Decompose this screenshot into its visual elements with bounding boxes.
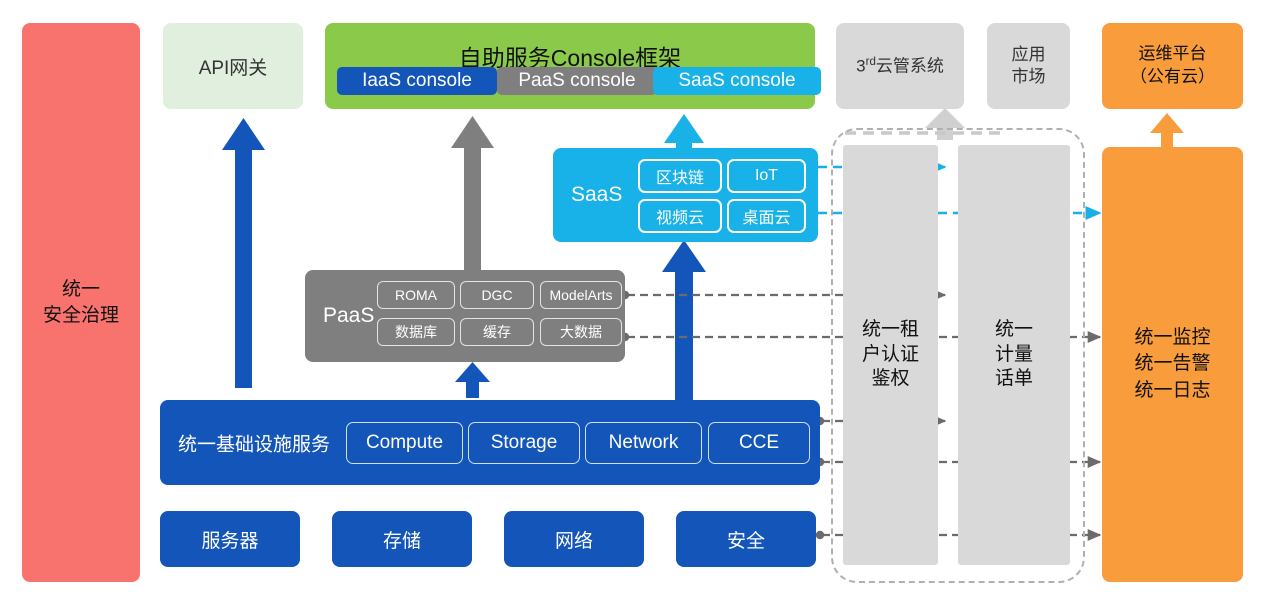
resource-tile-storage[interactable]: 存储 (332, 511, 472, 567)
app-market-label: 应用 市场 (1012, 44, 1046, 88)
paas-item-dgc-label: DGC (481, 287, 512, 303)
paas-label: PaaS (323, 304, 374, 328)
saas-item-desktop-cloud[interactable]: 桌面云 (727, 199, 806, 233)
saas-item-video-cloud-label: 视频云 (656, 204, 704, 228)
self-service-console-frame: 自助服务Console框架 IaaS console PaaS console … (325, 23, 815, 109)
api-gateway-box[interactable]: API网关 (163, 23, 303, 109)
unified-security-governance-panel: 统一 安全治理 (22, 23, 140, 582)
infra-item-compute[interactable]: Compute (346, 422, 463, 464)
saas-label: SaaS (571, 183, 622, 207)
paas-item-modelarts[interactable]: ModelArts (540, 281, 622, 309)
arrow-infra-to-api-gateway (222, 118, 265, 388)
unified-infrastructure-bar: 统一基础设施服务 Compute Storage Network CCE (160, 400, 820, 485)
saas-item-iot-label: IoT (755, 167, 778, 185)
unified-tenant-auth-label: 统一租 户认证 鉴权 (843, 318, 938, 392)
architecture-diagram-canvas: 统一 安全治理 API网关 自助服务Console框架 IaaS console… (0, 0, 1265, 605)
saas-item-desktop-cloud-label: 桌面云 (742, 204, 790, 228)
paas-item-dgc[interactable]: DGC (460, 281, 534, 309)
paas-console-chip[interactable]: PaaS console (497, 67, 657, 95)
arrow-to-ops-platform (1150, 113, 1184, 147)
paas-item-cache[interactable]: 缓存 (460, 318, 534, 346)
ops-platform-box[interactable]: 运维平台 （公有云） (1102, 23, 1243, 109)
saas-block: SaaS 区块链 IoT 视频云 桌面云 (553, 148, 818, 242)
infra-item-cce[interactable]: CCE (708, 422, 810, 464)
resource-tile-storage-label: 存储 (383, 526, 421, 553)
unified-monitoring-label: 统一监控 统一告警 统一日志 (1134, 325, 1210, 404)
paas-item-cache-label: 缓存 (483, 322, 511, 342)
infra-item-compute-label: Compute (366, 432, 443, 454)
resource-tile-network-label: 网络 (555, 526, 593, 553)
saas-item-blockchain-label: 区块链 (656, 164, 704, 188)
resource-tile-server-label: 服务器 (201, 526, 258, 553)
saas-item-iot[interactable]: IoT (727, 159, 806, 193)
paas-item-database-label: 数据库 (395, 322, 437, 342)
ops-platform-label: 运维平台 （公有云） (1130, 43, 1215, 89)
infra-item-storage-label: Storage (491, 432, 558, 454)
arrow-infra-to-paas (455, 362, 490, 398)
resource-tile-security-label: 安全 (727, 526, 765, 553)
saas-console-chip[interactable]: SaaS console (653, 67, 821, 95)
paas-item-database[interactable]: 数据库 (377, 318, 455, 346)
paas-item-modelarts-label: ModelArts (549, 287, 612, 303)
unified-tenant-auth-column: 统一租 户认证 鉴权 (843, 145, 938, 565)
api-gateway-label: API网关 (199, 53, 268, 80)
third-party-cloud-mgmt-label: 3rd云管系统 (856, 55, 944, 78)
infra-item-network-label: Network (609, 432, 679, 454)
saas-item-video-cloud[interactable]: 视频云 (638, 199, 722, 233)
unified-metering-label: 统一 计量 话单 (958, 318, 1070, 392)
saas-item-blockchain[interactable]: 区块链 (638, 159, 722, 193)
paas-item-roma-label: ROMA (395, 287, 437, 303)
paas-item-bigdata[interactable]: 大数据 (540, 318, 622, 346)
resource-tile-security[interactable]: 安全 (676, 511, 816, 567)
app-market-box[interactable]: 应用 市场 (987, 23, 1070, 109)
unified-monitoring-panel: 统一监控 统一告警 统一日志 (1102, 147, 1243, 582)
saas-console-label: SaaS console (678, 70, 795, 92)
iaas-console-chip[interactable]: IaaS console (337, 67, 497, 95)
ordinal-suffix: rd (866, 56, 876, 68)
arrow-infra-to-saas (662, 240, 706, 400)
unified-security-governance-label: 统一 安全治理 (43, 277, 119, 328)
resource-tile-server[interactable]: 服务器 (160, 511, 300, 567)
paas-console-label: PaaS console (518, 70, 635, 92)
infra-item-storage[interactable]: Storage (468, 422, 580, 464)
infra-item-cce-label: CCE (739, 432, 779, 454)
resource-tile-network[interactable]: 网络 (504, 511, 644, 567)
infra-item-network[interactable]: Network (585, 422, 702, 464)
paas-item-bigdata-label: 大数据 (560, 322, 602, 342)
paas-item-roma[interactable]: ROMA (377, 281, 455, 309)
iaas-console-label: IaaS console (362, 70, 472, 92)
unified-metering-column: 统一 计量 话单 (958, 145, 1070, 565)
third-party-cloud-mgmt-box[interactable]: 3rd云管系统 (836, 23, 964, 109)
arrow-saas-to-console (664, 114, 704, 150)
arrow-paas-to-console (451, 116, 494, 272)
unified-infrastructure-label: 统一基础设施服务 (178, 429, 330, 456)
paas-block: PaaS ROMA DGC ModelArts 数据库 缓存 大数据 (305, 270, 625, 362)
